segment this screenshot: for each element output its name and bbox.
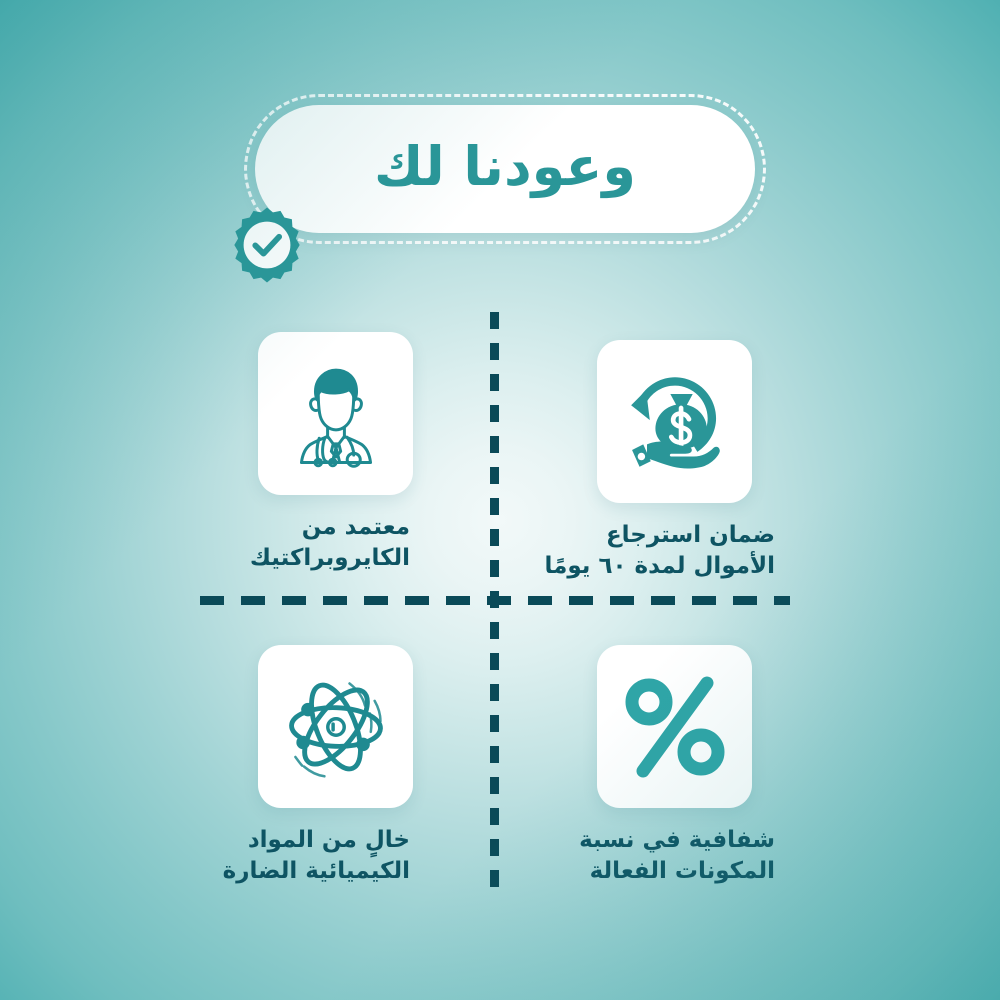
feature-icon-card [597,645,752,808]
verified-check-badge-icon [228,206,306,284]
horizontal-dashed-divider [200,596,790,605]
feature-chemical-free: خالٍ من المواد الكيميائية الضارة [120,645,410,886]
feature-label: معتمد من الكايروبراكتيك [120,512,410,573]
percent-sign-icon [615,667,735,787]
doctor-stethoscope-icon [280,358,392,470]
feature-money-back-guarantee: ضمان استرجاع الأموال لمدة ٦٠ يومًا [487,340,777,581]
money-bag-refund-hand-icon [619,366,731,478]
feature-label: خالٍ من المواد الكيميائية الضارة [120,825,410,886]
feature-icon-card [258,645,413,808]
title-pill: وعودنا لك [255,105,755,233]
infographic-canvas: وعودنا لك [0,0,1000,1000]
feature-label: ضمان استرجاع الأموال لمدة ٦٠ يومًا [487,520,775,581]
feature-ingredient-transparency: شفافية في نسبة المكونات الفعالة [487,645,777,886]
title-banner: وعودنا لك [255,105,755,233]
page-title: وعودنا لك [374,140,636,198]
feature-chiropractic-certified: معتمد من الكايروبراكتيك [120,332,410,573]
feature-label: شفافية في نسبة المكونات الفعالة [487,825,775,886]
atom-molecule-icon [278,669,394,785]
feature-icon-card [258,332,413,495]
feature-icon-card [597,340,752,503]
